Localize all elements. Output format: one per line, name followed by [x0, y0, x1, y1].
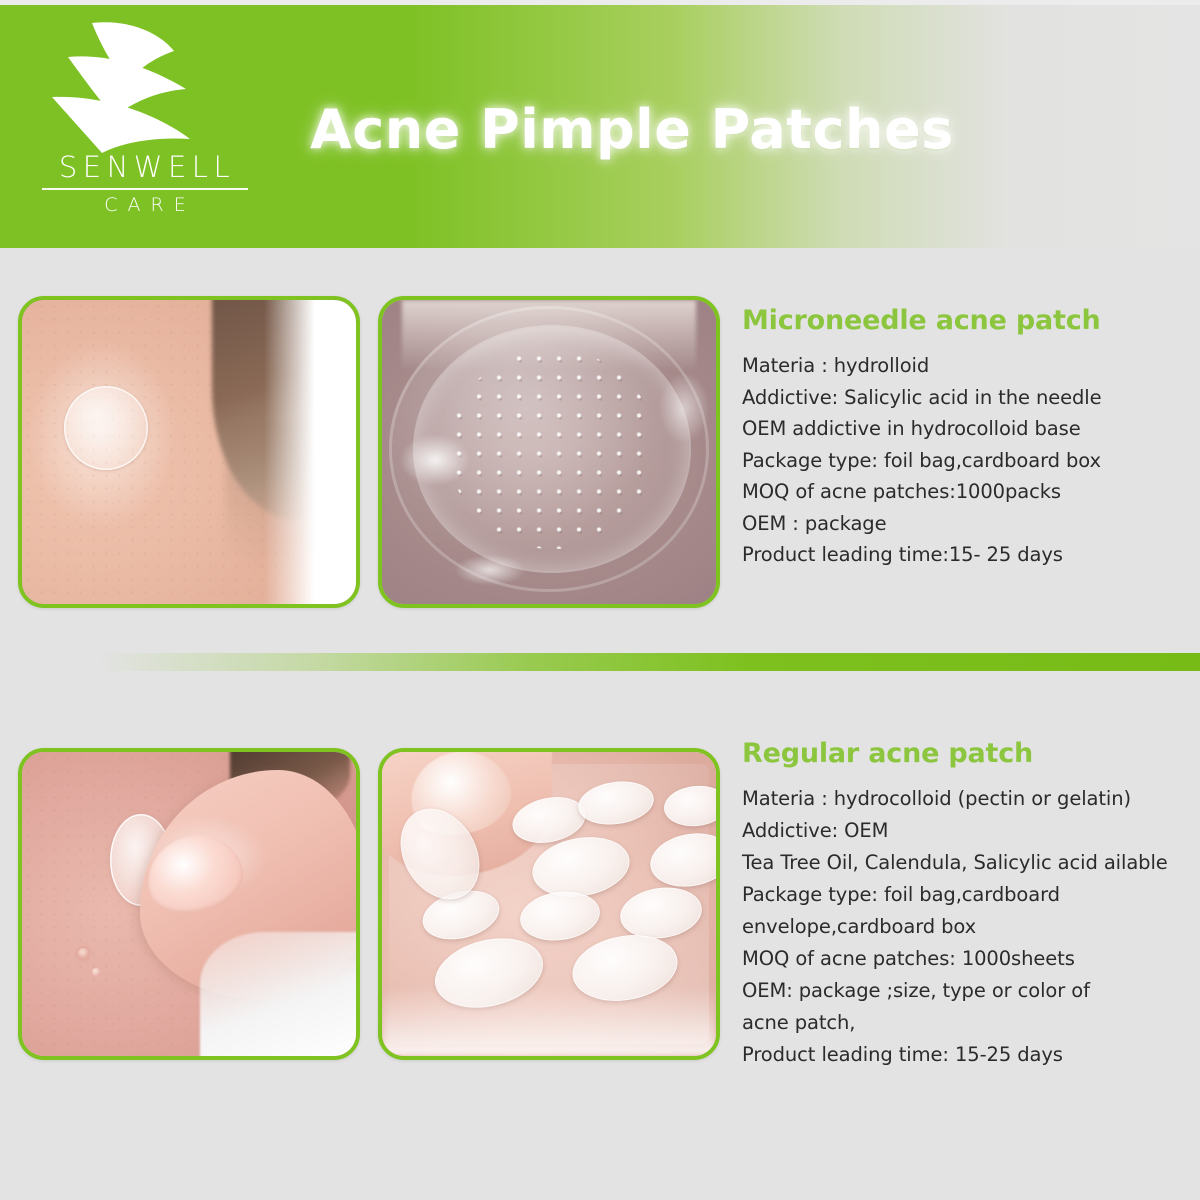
- spec-line: Materia : hydrocolloid (pectin or gelati…: [742, 783, 1194, 815]
- spec-line: OEM addictive in hydrocolloid base: [742, 413, 1194, 445]
- highlight-glint: [455, 555, 525, 585]
- header-banner: SENWELL CARE Acne Pimple Patches: [0, 5, 1200, 248]
- spec-line: envelope,cardboard box: [742, 911, 1194, 943]
- white-background: [264, 300, 356, 604]
- applied-patch-disc: [64, 386, 148, 470]
- spec-line: Addictive: Salicylic acid in the needle: [742, 382, 1194, 414]
- section-divider-bar: [0, 653, 1200, 671]
- spec-line: acne patch,: [742, 1007, 1194, 1039]
- brand-divider-rule: [42, 188, 248, 190]
- spec-line: OEM: package ;size, type or color of: [742, 975, 1194, 1007]
- highlight-glint: [659, 373, 709, 443]
- blemish-spot: [78, 948, 89, 959]
- cheek-with-patch-photo: [18, 296, 360, 608]
- depth-blur: [382, 986, 716, 1056]
- spec-line: Materia : hydrolloid: [742, 350, 1194, 382]
- finger-applying-patch-photo: [18, 748, 360, 1060]
- microneedle-dot-grid: [449, 349, 656, 550]
- spec-line: Addictive: OEM: [742, 815, 1194, 847]
- microneedle-info-block: Microneedle acne patch Materia : hydroll…: [742, 305, 1194, 571]
- spec-line: MOQ of acne patches: 1000sheets: [742, 943, 1194, 975]
- spec-line: Product leading time: 15-25 days: [742, 1039, 1194, 1071]
- microneedle-patch-macro-photo: [378, 296, 720, 608]
- section-heading-regular: Regular acne patch: [742, 738, 1194, 769]
- brand-tagline: CARE: [40, 196, 250, 215]
- brand-name: SENWELL: [40, 153, 250, 182]
- spec-line: Product leading time:15- 25 days: [742, 539, 1194, 571]
- three-leaf-flame-logo-icon: [34, 17, 204, 157]
- highlight-glint: [399, 434, 471, 486]
- page-title: Acne Pimple Patches: [310, 103, 1070, 157]
- blemish-spot: [92, 968, 100, 976]
- section-heading-microneedle: Microneedle acne patch: [742, 305, 1194, 336]
- spec-line: OEM : package: [742, 508, 1194, 540]
- spec-line: Package type: foil bag,cardboard box: [742, 445, 1194, 477]
- infographic-page: SENWELL CARE Acne Pimple Patches: [0, 0, 1200, 1200]
- spec-line: Package type: foil bag,cardboard: [742, 879, 1194, 911]
- regular-info-block: Regular acne patch Materia : hydrocolloi…: [742, 738, 1194, 1071]
- spec-line: MOQ of acne patches:1000packs: [742, 476, 1194, 508]
- brand-logotype: SENWELL CARE: [40, 153, 250, 215]
- white-shirt: [200, 932, 360, 1060]
- patch-sheet-in-hand-photo: [378, 748, 720, 1060]
- spec-line: Tea Tree Oil, Calendula, Salicylic acid …: [742, 847, 1194, 879]
